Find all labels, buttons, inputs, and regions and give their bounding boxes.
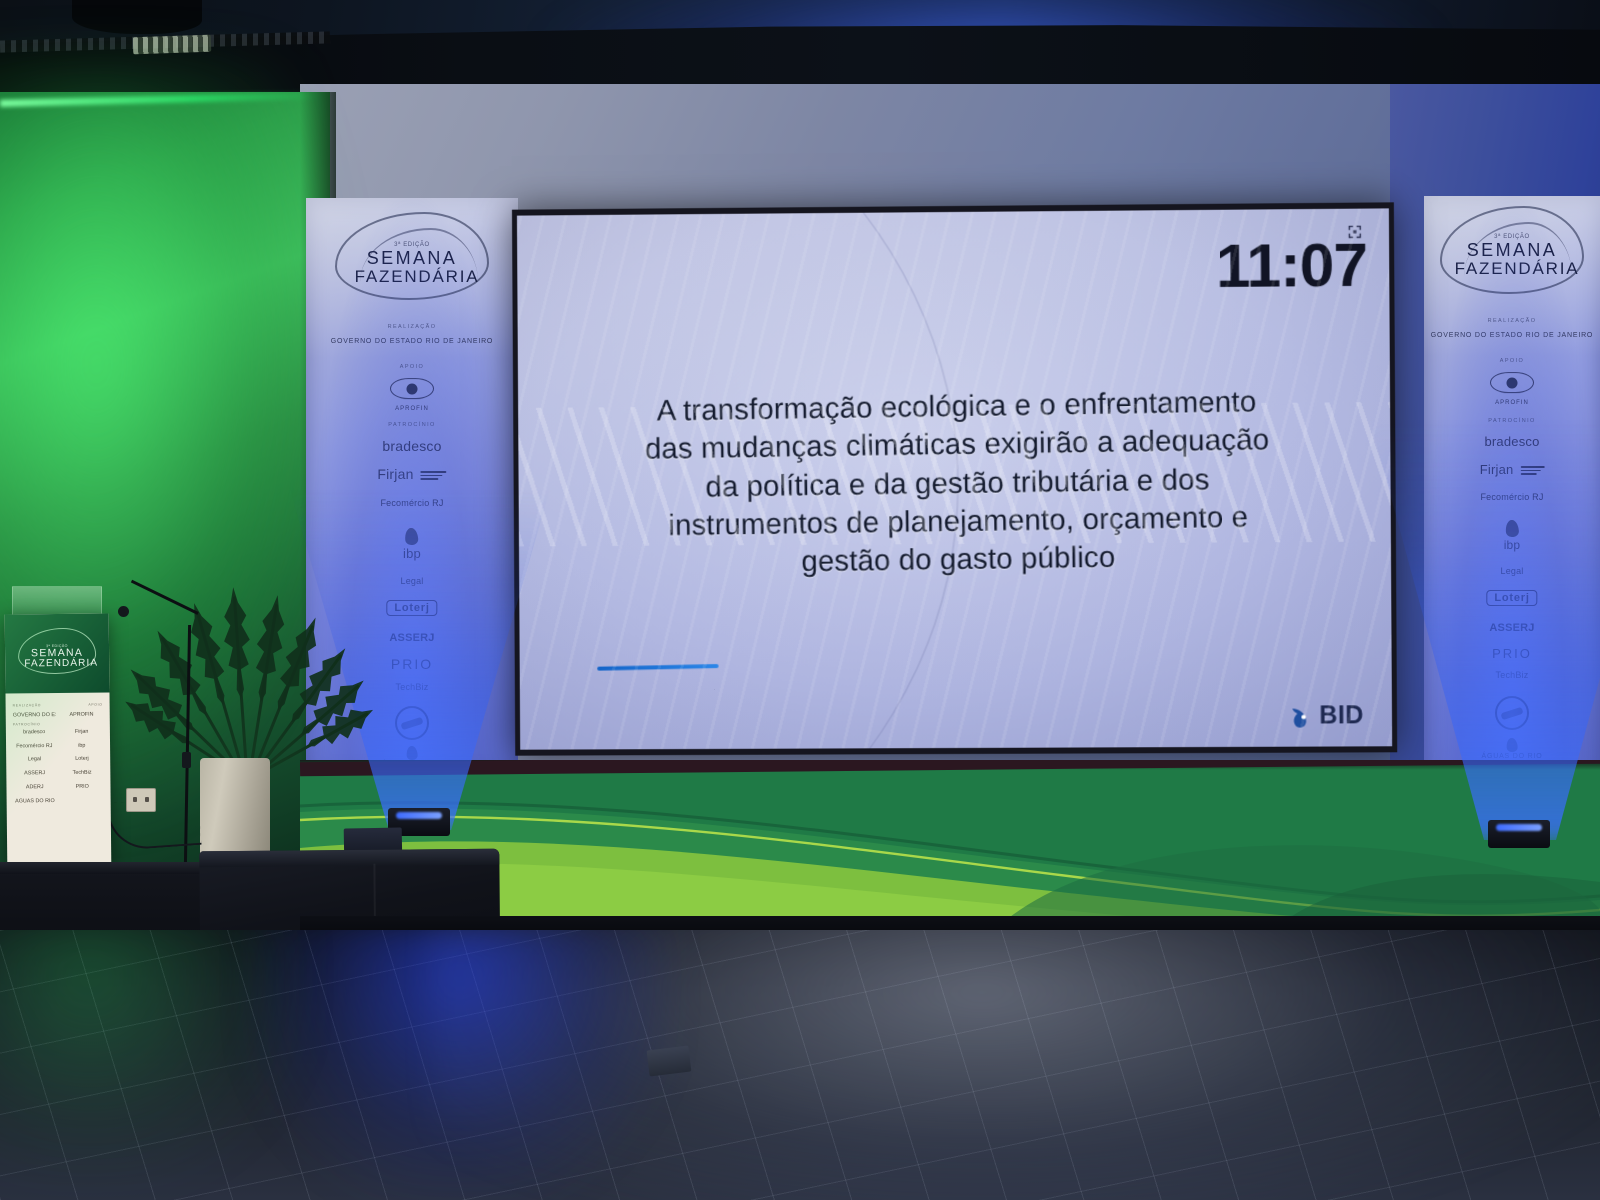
banner-right-logo-pretitle: 3ª EDIÇÃO	[1432, 220, 1592, 240]
podium-category-patrocinio: PATROCÍNIO	[13, 721, 103, 726]
podium-sponsor-bradesco: bradesco	[13, 729, 56, 736]
banner-left-logo-pretitle: 3ª EDIÇÃO	[327, 226, 497, 248]
podium-sign-body: REALIZAÇÃO APOIO GOVERNO DO ESTADO RIO D…	[6, 692, 111, 808]
podium-sponsor-legal: Legal	[13, 756, 56, 763]
podium-sponsor-aprofin: APROFIN	[60, 712, 103, 719]
screen-sheen-secondary	[518, 402, 1391, 547]
banner-left-logo: 3ª EDIÇÃO SEMANA FAZENDÁRIA	[327, 226, 497, 286]
stage-photo-scene: 3ª EDIÇÃO SEMANA FAZENDÁRIA REALIZAÇÃO G…	[0, 0, 1600, 1200]
riser-top-edge	[199, 849, 499, 868]
banner-left-category-apoio: APOIO	[400, 364, 424, 370]
banner-left-category-realizacao: REALIZAÇÃO	[388, 324, 437, 330]
ceiling-light-fixture	[133, 35, 212, 55]
sponsor-aprofin: APROFIN	[390, 378, 434, 413]
podium-sponsor-aguas: ÁGUAS DO RIO	[14, 798, 57, 805]
podium-sponsor-firjan: Firjan	[60, 728, 103, 735]
banner-right-category-realizacao: REALIZAÇÃO	[1488, 318, 1537, 324]
podium-logo-pretitle: 3ª EDIÇÃO	[5, 613, 109, 648]
banner-right-logo-line2: FAZENDÁRIA	[1442, 260, 1592, 278]
podium-category-realizacao: REALIZAÇÃO	[13, 703, 42, 707]
microphone-head-icon	[118, 606, 129, 617]
sponsor-aprofin: APROFIN	[1490, 372, 1534, 407]
podium-sponsor-aderj: ADERJ	[13, 784, 56, 791]
projection-screen: 11:07 A transformação ecológica e o enfr…	[517, 208, 1392, 749]
floor-blue-spill	[250, 930, 670, 1200]
podium-sign-header: 3ª EDIÇÃO SEMANA FAZENDÁRIA	[5, 613, 110, 693]
uplight-right	[1420, 440, 1600, 840]
banner-right-logo: 3ª EDIÇÃO SEMANA FAZENDÁRIA	[1432, 220, 1592, 278]
podium-sponsor-prio: PRIO	[61, 783, 104, 790]
sponsor-firjan: Firjan	[377, 466, 446, 482]
banner-left-category-patrocinio: PATROCÍNIO	[388, 422, 435, 428]
floor	[0, 930, 1600, 1200]
banner-right-category-apoio: APOIO	[1500, 358, 1524, 364]
aprofin-eye-icon	[390, 378, 434, 399]
podium-sponsor-governo: GOVERNO DO ESTADO RIO DE JANEIRO	[13, 712, 56, 719]
banner-left-logo-line2: FAZENDÁRIA	[337, 268, 497, 286]
podium-category-apoio: APOIO	[88, 703, 102, 707]
potted-palm	[150, 470, 340, 770]
floor-vent-plate	[647, 1046, 692, 1077]
firjan-bars-icon	[421, 469, 447, 482]
banner-right-logo-line1: SEMANA	[1432, 241, 1592, 260]
ceiling-equipment-shadow	[72, 0, 202, 34]
podium-sponsor-fecomercio: Fecomércio RJ	[13, 743, 56, 750]
podium-logo-line2: FAZENDÁRIA	[5, 659, 109, 671]
podium-sponsor-grid-top: GOVERNO DO ESTADO RIO DE JANEIRO APROFIN	[13, 712, 103, 720]
projection-screen-frame: 11:07 A transformação ecológica e o enfr…	[512, 202, 1397, 755]
sponsor-bradesco: bradesco	[382, 438, 441, 454]
floor-green-spill	[0, 930, 300, 1180]
podium-sponsor-loterj: Loterj	[61, 756, 104, 763]
podium-sponsor-ibp: ibp	[61, 742, 104, 749]
sponsor-governo-rj: GOVERNO DO ESTADO RIO DE JANEIRO	[1428, 332, 1596, 339]
planter-pot	[200, 758, 270, 862]
aprofin-eye-icon	[1490, 372, 1534, 393]
podium-sponsor-techbiz: TechBiz	[61, 770, 104, 777]
podium-sponsor-sign: 3ª EDIÇÃO SEMANA FAZENDÁRIA REALIZAÇÃO A…	[5, 613, 112, 867]
podium-sponsor-asserj: ASSERJ	[13, 770, 56, 777]
sponsor-governo-rj: GOVERNO DO ESTADO RIO DE JANEIRO	[322, 338, 502, 345]
uplight-left	[330, 500, 510, 830]
banner-left-logo-line1: SEMANA	[327, 249, 497, 268]
podium-sponsor-grid: bradesco Firjan Fecomércio RJ ibp Legal …	[13, 728, 104, 804]
uplight-right-fixture	[1488, 820, 1550, 848]
microphone-stand-clutch	[182, 752, 191, 768]
